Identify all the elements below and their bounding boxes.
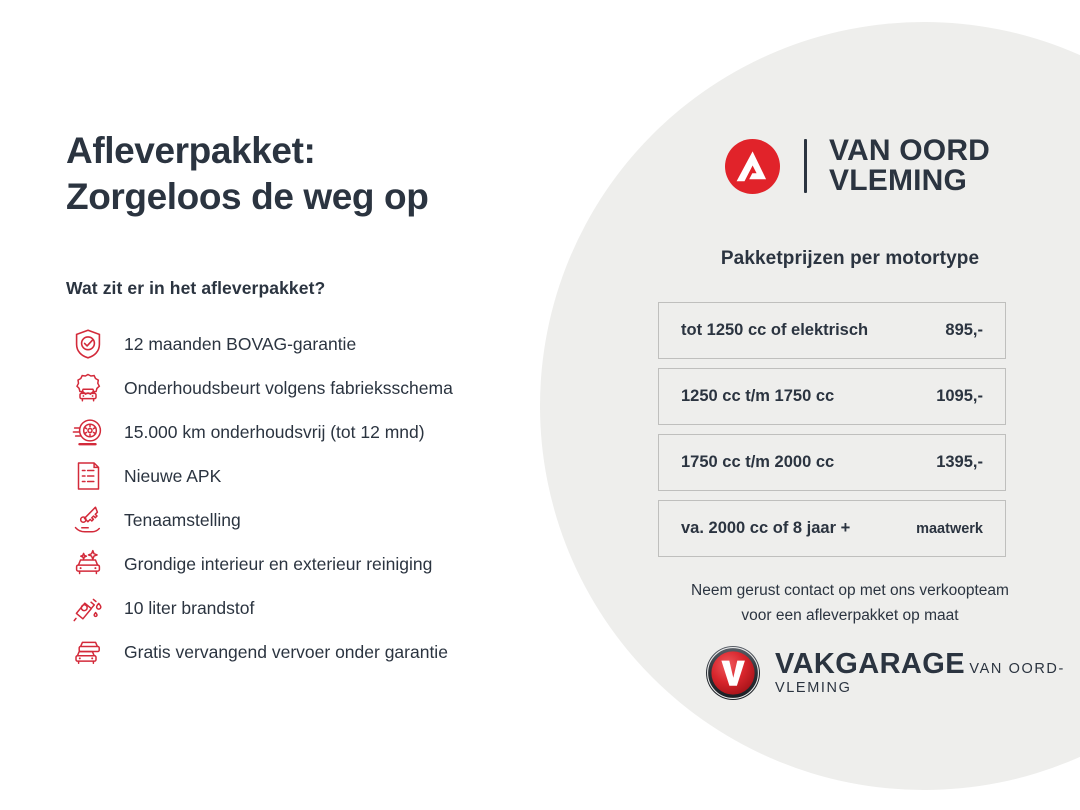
price-row-value: maatwerk: [916, 521, 983, 537]
table-row: 1750 cc t/m 2000 cc 1395,-: [658, 434, 1006, 491]
brand-line-2: VLEMING: [829, 166, 990, 196]
prices-title: Pakketprijzen per motortype: [620, 248, 1080, 270]
price-row-label: tot 1250 cc of elektrisch: [681, 321, 868, 340]
list-item-label: Nieuwe APK: [124, 466, 221, 486]
list-item: 15.000 km onderhoudsvrij (tot 12 mnd): [66, 410, 536, 454]
shield-check-icon: [66, 322, 110, 366]
list-item-label: 15.000 km onderhoudsvrij (tot 12 mnd): [124, 422, 425, 442]
car-wash-sparkle-icon: [66, 542, 110, 586]
price-row-value: 1395,-: [936, 453, 983, 472]
price-table: tot 1250 cc of elektrisch 895,- 1250 cc …: [658, 302, 1006, 566]
list-item: 12 maanden BOVAG-garantie: [66, 322, 536, 366]
price-row-label: 1750 cc t/m 2000 cc: [681, 453, 834, 472]
checklist-clipboard-icon: [66, 454, 110, 498]
page-title: Afleverpakket: Zorgeloos de weg op: [66, 128, 536, 220]
table-row: 1250 cc t/m 1750 cc 1095,-: [658, 368, 1006, 425]
a-circle-logo-icon: [725, 139, 780, 194]
vakgarage-title: VAKGARAGE: [775, 648, 965, 680]
list-item-label: Gratis vervangend vervoer onder garantie: [124, 642, 448, 662]
list-item: 10 liter brandstof: [66, 586, 536, 630]
v-circle-logo-icon: [705, 645, 761, 701]
wheel-speed-icon: [66, 410, 110, 454]
features-list: 12 maanden BOVAG-garantie Onderhoudsbeur…: [66, 322, 536, 674]
list-item: Tenaamstelling: [66, 498, 536, 542]
price-row-label: va. 2000 cc of 8 jaar +: [681, 519, 850, 538]
two-cars-icon: [66, 630, 110, 674]
car-service-gear-icon: [66, 366, 110, 410]
price-row-value: 1095,-: [936, 387, 983, 406]
list-item: Gratis vervangend vervoer onder garantie: [66, 630, 536, 674]
list-item-label: Grondige interieur en exterieur reinigin…: [124, 554, 432, 574]
headline-line-1: Afleverpakket:: [66, 130, 315, 171]
fuel-nozzle-icon: [66, 586, 110, 630]
headline-line-2: Zorgeloos de weg op: [66, 174, 536, 220]
list-item-label: Onderhoudsbeurt volgens fabrieksschema: [124, 378, 453, 398]
price-row-value: 895,-: [945, 321, 983, 340]
list-item: Grondige interieur en exterieur reinigin…: [66, 542, 536, 586]
list-item: Nieuwe APK: [66, 454, 536, 498]
key-in-hand-icon: [66, 498, 110, 542]
table-row: tot 1250 cc of elektrisch 895,-: [658, 302, 1006, 359]
features-subheading: Wat zit er in het afleverpakket?: [66, 278, 536, 299]
contact-line-2: voor een afleverpakket op maat: [620, 603, 1080, 628]
list-item-label: 10 liter brandstof: [124, 598, 254, 618]
list-item-label: 12 maanden BOVAG-garantie: [124, 334, 356, 354]
contact-line-1: Neem gerust contact op met ons verkoopte…: [620, 578, 1080, 603]
list-item-label: Tenaamstelling: [124, 510, 241, 530]
brand-line-1: VAN OORD: [829, 136, 990, 166]
brand-name: VAN OORD VLEMING: [829, 136, 990, 196]
infographic-root: Afleverpakket: Zorgeloos de weg op Wat z…: [0, 0, 1080, 810]
price-row-label: 1250 cc t/m 1750 cc: [681, 387, 834, 406]
list-item: Onderhoudsbeurt volgens fabrieksschema: [66, 366, 536, 410]
left-column: Afleverpakket: Zorgeloos de weg op Wat z…: [66, 128, 536, 674]
contact-note: Neem gerust contact op met ons verkoopte…: [620, 578, 1080, 628]
table-row: va. 2000 cc of 8 jaar + maatwerk: [658, 500, 1006, 557]
brand-lockup: VAN OORD VLEMING: [725, 136, 990, 196]
vakgarage-lockup: VAKGARAGE VAN OORD-VLEMING: [705, 645, 1080, 701]
right-column: VAN OORD VLEMING Pakketprijzen per motor…: [620, 0, 1080, 810]
vakgarage-name: VAKGARAGE VAN OORD-VLEMING: [775, 649, 1080, 697]
brand-divider: [804, 139, 807, 193]
